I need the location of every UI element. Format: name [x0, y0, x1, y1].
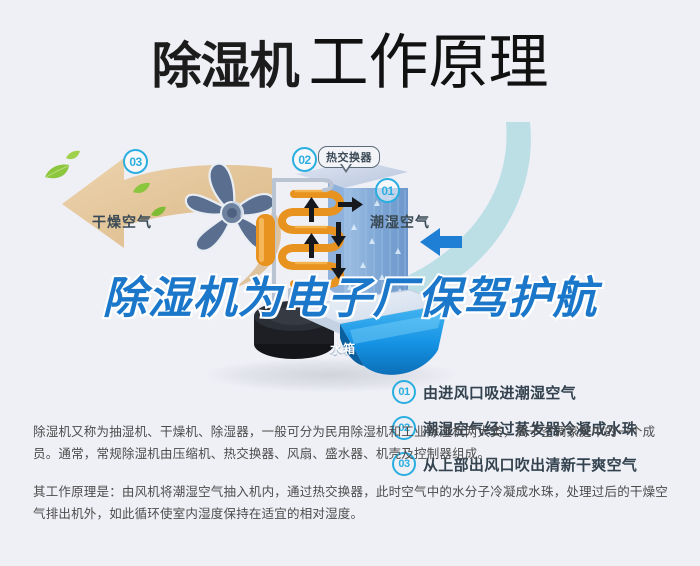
label-water-tank: 水箱 — [330, 340, 356, 357]
label-humid-air: 潮湿空气 — [370, 212, 430, 232]
body-paragraph-2: 其工作原理是：由风机将潮湿空气抽入机内，通过热交换器，此时空气中的水分子冷凝成水… — [33, 481, 673, 525]
leaf-icon — [44, 163, 70, 181]
leaf-icon — [66, 150, 80, 161]
label-badge-02: 02 — [292, 147, 317, 172]
label-badge-03-text: 03 — [129, 155, 141, 169]
dehumidifier-diagram: 03 干燥空气 02 热交换器 01 潮湿空气 水箱 01 由进风口吸进潮湿空气… — [0, 120, 700, 410]
step-badge: 01 — [392, 380, 416, 404]
label-badge-01-text: 01 — [381, 184, 393, 198]
page-title: 除湿机工作原理 — [0, 33, 700, 93]
step-item: 01 由进风口吸进潮湿空气 — [392, 378, 692, 406]
leaf-icon — [133, 182, 150, 195]
page-title-part2: 工作原理 — [309, 28, 549, 98]
label-heat-exchanger-tail — [340, 164, 352, 173]
leaf-icon — [151, 206, 166, 218]
body-paragraph-1: 除湿机又称为抽湿机、干燥机、除湿器，一般可分为民用除湿机和工业除湿机两大类，属于… — [33, 421, 673, 465]
page-root: 除湿机工作原理 — [0, 0, 700, 566]
label-badge-03: 03 — [123, 149, 148, 174]
step-label: 由进风口吸进潮湿空气 — [423, 382, 576, 403]
label-badge-01: 01 — [375, 178, 400, 203]
label-dry-air: 干燥空气 — [92, 212, 152, 232]
label-badge-02-text: 02 — [298, 153, 310, 167]
page-title-part1: 除湿机 — [152, 37, 299, 95]
body-copy: 除湿机又称为抽湿机、干燥机、除湿器，一般可分为民用除湿机和工业除湿机两大类，属于… — [33, 421, 673, 531]
